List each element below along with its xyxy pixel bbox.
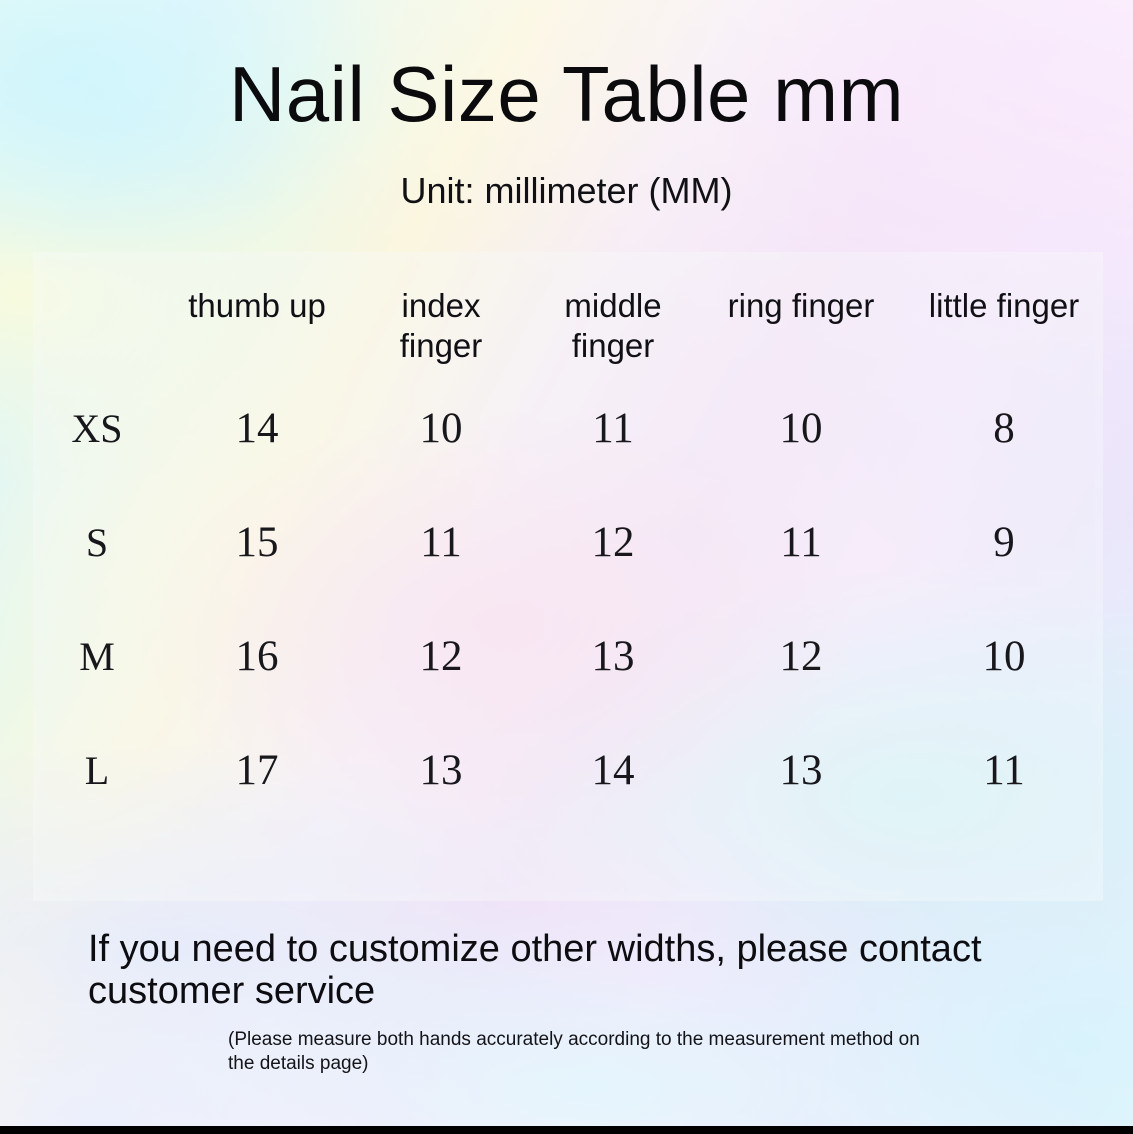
cell-value: 11 xyxy=(420,519,461,566)
table-row: S 15 11 12 11 9 xyxy=(33,514,1103,572)
table-row-size: XS xyxy=(33,403,161,455)
size-table-grid: thumb up index finger middle finger ring… xyxy=(33,252,1103,901)
cell-value: 14 xyxy=(592,747,635,794)
size-label: L xyxy=(85,748,109,793)
cell-value: 8 xyxy=(993,405,1015,452)
size-label: M xyxy=(79,634,115,679)
table-cell-little-finger: 9 xyxy=(905,517,1103,569)
table-cell-middle-finger: 14 xyxy=(529,745,697,797)
table-cell-index-finger: 13 xyxy=(353,745,529,797)
footer-note: If you need to customize other widths, p… xyxy=(88,928,988,1012)
size-table-panel: thumb up index finger middle finger ring… xyxy=(33,252,1103,901)
bottom-black-bar xyxy=(0,1126,1133,1134)
page-title: Nail Size Table mm xyxy=(0,48,1133,140)
table-cell-ring-finger: 13 xyxy=(697,745,905,797)
table-header-label: little finger xyxy=(929,286,1079,326)
cell-value: 13 xyxy=(780,747,823,794)
table-header-label: ring finger xyxy=(728,286,875,326)
nail-size-table-page: Nail Size Table mm Unit: millimeter (MM)… xyxy=(0,0,1133,1134)
table-row-size: M xyxy=(33,631,161,683)
cell-value: 11 xyxy=(780,519,821,566)
cell-value: 13 xyxy=(420,747,463,794)
cell-value: 11 xyxy=(592,405,633,452)
cell-value: 12 xyxy=(592,519,635,566)
table-cell-middle-finger: 13 xyxy=(529,631,697,683)
cell-value: 9 xyxy=(993,519,1015,566)
table-cell-ring-finger: 10 xyxy=(697,403,905,455)
cell-value: 11 xyxy=(983,747,1024,794)
table-header-thumb-up: thumb up xyxy=(161,286,353,326)
size-label: XS xyxy=(71,406,122,451)
cell-value: 14 xyxy=(236,405,279,452)
page-subtitle: Unit: millimeter (MM) xyxy=(0,168,1133,214)
table-cell-little-finger: 10 xyxy=(905,631,1103,683)
table-cell-index-finger: 12 xyxy=(353,631,529,683)
cell-value: 12 xyxy=(780,633,823,680)
cell-value: 13 xyxy=(592,633,635,680)
table-cell-middle-finger: 12 xyxy=(529,517,697,569)
cell-value: 10 xyxy=(420,405,463,452)
table-row: XS 14 10 11 10 8 xyxy=(33,400,1103,458)
table-row: L 17 13 14 13 11 xyxy=(33,742,1103,800)
size-label: S xyxy=(86,520,108,565)
table-header-middle-finger: middle finger xyxy=(529,286,697,366)
table-cell-thumb-up: 17 xyxy=(161,745,353,797)
cell-value: 15 xyxy=(236,519,279,566)
table-cell-index-finger: 10 xyxy=(353,403,529,455)
footer-sub-note: (Please measure both hands accurately ac… xyxy=(228,1028,928,1076)
cell-value: 10 xyxy=(983,633,1026,680)
table-header-corner xyxy=(33,286,161,304)
table-row-size: S xyxy=(33,517,161,569)
table-cell-thumb-up: 16 xyxy=(161,631,353,683)
table-cell-little-finger: 8 xyxy=(905,403,1103,455)
table-cell-little-finger: 11 xyxy=(905,745,1103,797)
cell-value: 17 xyxy=(236,747,279,794)
cell-value: 10 xyxy=(780,405,823,452)
table-header-label: middle finger xyxy=(549,286,677,366)
table-header-row: thumb up index finger middle finger ring… xyxy=(33,286,1103,378)
cell-value: 12 xyxy=(420,633,463,680)
table-cell-thumb-up: 15 xyxy=(161,517,353,569)
table-cell-ring-finger: 11 xyxy=(697,517,905,569)
table-header-label: index finger xyxy=(377,286,505,366)
table-cell-thumb-up: 14 xyxy=(161,403,353,455)
table-row-size: L xyxy=(33,745,161,797)
table-header-index-finger: index finger xyxy=(353,286,529,366)
table-header-ring-finger: ring finger xyxy=(697,286,905,326)
table-cell-index-finger: 11 xyxy=(353,517,529,569)
table-cell-middle-finger: 11 xyxy=(529,403,697,455)
table-header-little-finger: little finger xyxy=(905,286,1103,326)
table-row: M 16 12 13 12 10 xyxy=(33,628,1103,686)
table-cell-ring-finger: 12 xyxy=(697,631,905,683)
table-header-label: thumb up xyxy=(188,286,326,326)
cell-value: 16 xyxy=(236,633,279,680)
